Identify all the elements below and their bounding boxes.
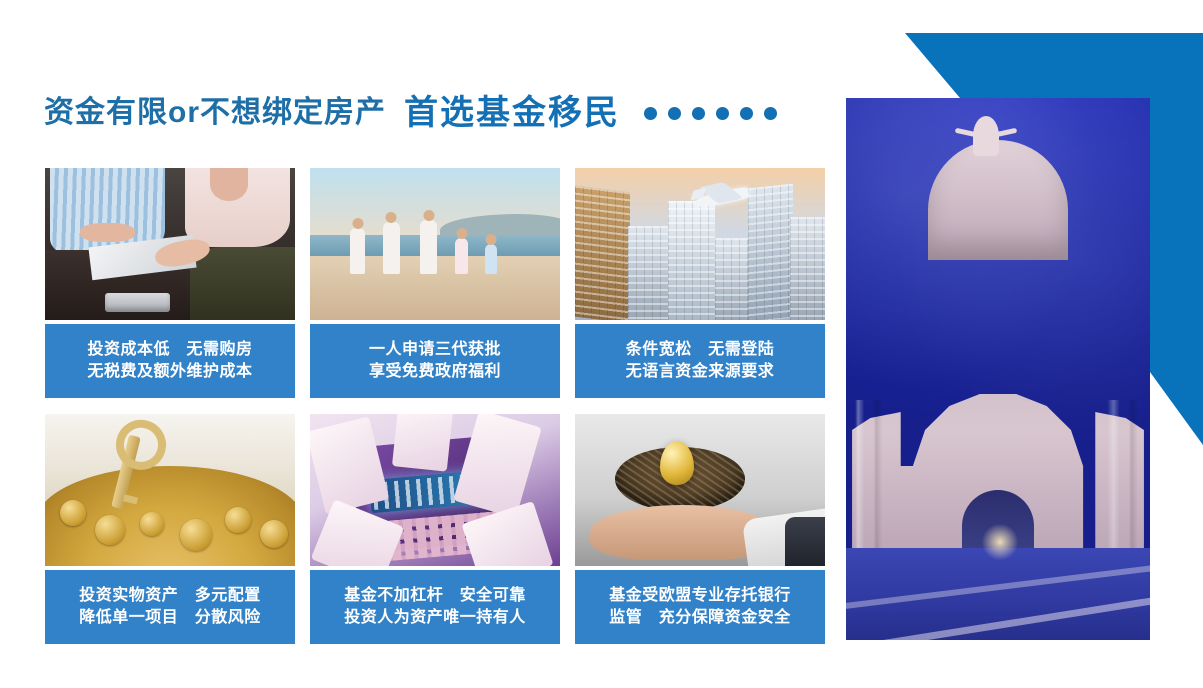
dot-6 (764, 107, 777, 120)
caption-line-1: 基金不加杠杆 安全可靠 (344, 588, 526, 605)
dot-2 (668, 107, 681, 120)
benefit-card-cost: 投资成本低 无需购房 无税费及额外维护成本 (45, 168, 295, 398)
slide-canvas: 资金有限or不想绑定房产 首选基金移民 投资成本低 无需购房 (0, 0, 1203, 688)
golden-egg-nest-photo (575, 414, 825, 566)
caption-line-1: 一人申请三代获批 (369, 342, 501, 359)
page-title: 资金有限or不想绑定房产 首选基金移民 (44, 96, 777, 130)
caption-line-2: 投资人为资产唯一持有人 (344, 610, 526, 627)
benefit-card-caption: 基金不加杠杆 安全可靠 投资人为资产唯一持有人 (310, 570, 560, 644)
arch-statue (973, 116, 999, 156)
business-meeting-photo (45, 168, 295, 320)
caption-line-2: 监管 充分保障资金安全 (609, 610, 791, 627)
benefit-card-leverage: 基金不加杠杆 安全可靠 投资人为资产唯一持有人 (310, 414, 560, 644)
benefit-card-caption: 投资实物资产 多元配置 降低单一项目 分散风险 (45, 570, 295, 644)
dot-4 (716, 107, 729, 120)
caption-line-2: 降低单一项目 分散风险 (79, 610, 261, 627)
dot-1 (644, 107, 657, 120)
family-on-beach-photo (310, 168, 560, 320)
caption-line-2: 享受免费政府福利 (369, 364, 501, 381)
headline-part-2: 首选基金移民 (404, 96, 620, 130)
benefit-card-custody: 基金受欧盟专业存托银行 监管 充分保障资金安全 (575, 414, 825, 644)
caption-line-1: 投资实物资产 多元配置 (79, 588, 261, 605)
benefit-card-conditions: 条件宽松 无需登陆 无语言资金来源要求 (575, 168, 825, 398)
caption-line-1: 条件宽松 无需登陆 (626, 342, 775, 359)
benefit-card-family: 一人申请三代获批 享受免费政府福利 (310, 168, 560, 398)
caption-line-1: 基金受欧盟专业存托银行 (609, 588, 791, 605)
benefit-card-caption: 投资成本低 无需购房 无税费及额外维护成本 (45, 324, 295, 398)
gold-coins-key-photo (45, 414, 295, 566)
lisbon-rua-augusta-arch-photo (846, 98, 1150, 640)
benefit-card-assets: 投资实物资产 多元配置 降低单一项目 分散风险 (45, 414, 295, 644)
skyscrapers-airplane-photo (575, 168, 825, 320)
street-light-glow (980, 522, 1020, 562)
caption-line-2: 无语言资金来源要求 (626, 364, 775, 381)
dot-3 (692, 107, 705, 120)
headline-part-1: 资金有限or不想绑定房产 (44, 98, 386, 128)
benefit-card-caption: 条件宽松 无需登陆 无语言资金来源要求 (575, 324, 825, 398)
benefit-card-caption: 一人申请三代获批 享受免费政府福利 (310, 324, 560, 398)
caption-line-2: 无税费及额外维护成本 (87, 364, 252, 381)
caption-line-1: 投资成本低 无需购房 (87, 342, 252, 359)
benefit-card-grid: 投资成本低 无需购房 无税费及额外维护成本 一人申请三代获批 享受免费政府福利 (45, 168, 825, 644)
benefit-card-caption: 基金受欧盟专业存托银行 监管 充分保障资金安全 (575, 570, 825, 644)
golden-egg-icon (660, 441, 694, 485)
calculator-receipts-photo (310, 414, 560, 566)
headline-dots (644, 107, 777, 120)
dot-5 (740, 107, 753, 120)
